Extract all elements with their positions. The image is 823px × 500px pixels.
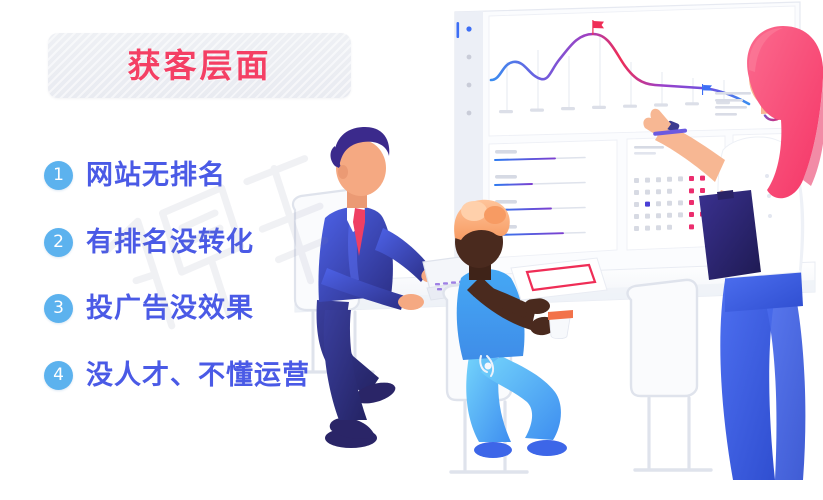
bullet-label-4: 没人才、不懂运营 [86,362,310,389]
title-banner: 获客层面 [48,33,351,98]
coffee-cup [548,310,573,339]
bullet-label-2: 有排名没转化 [86,229,254,256]
bullet-item-3: 3 投广告没效果 [44,288,254,328]
bullet-number-2: 2 [44,228,73,257]
left-content-panel: 获客层面 1 网站无排名 2 有排名没转化 3 投广告没效果 4 没人才、不懂运… [0,0,400,500]
hand-left [398,294,424,310]
bullet-label-3: 投广告没效果 [86,295,254,322]
bullet-number-3: 3 [44,294,73,323]
sidebar-dot-4[interactable] [467,111,472,116]
progress-card [489,140,617,258]
shoe-2 [527,440,567,456]
chair-right [628,280,711,470]
heatmap-sub-bar [634,152,656,155]
bullet-number-1: 1 [44,161,73,190]
bullet-item-1: 1 网站无排名 [44,155,226,195]
sidebar-dot-3[interactable] [467,83,472,88]
sidebar-dot-active[interactable] [466,26,471,31]
page-title: 获客层面 [128,49,272,82]
bullet-label-1: 网站无排名 [86,162,226,189]
poster-canvas: +65 % +59 % +38 % +80 % 45 获客层面 1 网站无排名 … [0,0,823,500]
bullet-item-2: 2 有排名没转化 [44,222,254,262]
heatmap-title-bar [634,146,664,149]
bullet-number-4: 4 [44,361,73,390]
shoe-1 [474,442,512,458]
sidebar-dot-2[interactable] [467,55,472,60]
sidebar-active-indicator [457,22,460,38]
clipboard [699,190,761,280]
bullet-item-4: 4 没人才、不懂运营 [44,355,310,395]
